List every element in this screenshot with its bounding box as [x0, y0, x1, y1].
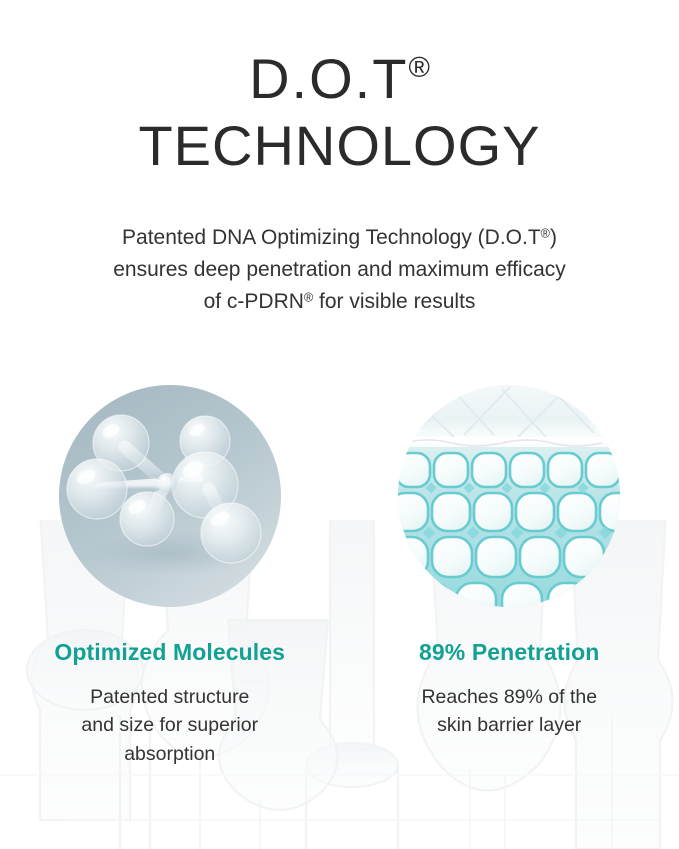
subtitle-line-1-b: ) [550, 226, 557, 249]
subtitle-line-3: of c-PDRN® for visible results [40, 286, 640, 318]
molecule-structure-image [59, 385, 281, 607]
feature-body-line-1: Patented structure [81, 683, 258, 711]
feature-penetration: 89% Penetration Reaches 89% of the skin … [340, 385, 679, 768]
feature-body-penetration: Reaches 89% of the skin barrier layer [421, 683, 597, 740]
feature-heading-penetration: 89% Penetration [419, 639, 599, 666]
subtitle-line-3-b: for visible results [313, 290, 475, 313]
dot-technology-infographic: D.O.T® TECHNOLOGY Patented DNA Optimizin… [0, 0, 679, 849]
subtitle-line-3-a: of c-PDRN [204, 290, 304, 313]
feature-columns: Optimized Molecules Patented structure a… [0, 385, 679, 768]
feature-body-line-2: skin barrier layer [421, 711, 597, 739]
subtitle-line-1: Patented DNA Optimizing Technology (D.O.… [40, 222, 640, 254]
title-line-1-text: D.O.T [249, 47, 408, 110]
page-title: D.O.T® TECHNOLOGY [0, 52, 679, 174]
skin-barrier-lattice-image [398, 385, 620, 607]
feature-body-line-3: absorption [81, 740, 258, 768]
subtitle: Patented DNA Optimizing Technology (D.O.… [40, 222, 640, 318]
feature-body-optimized-molecules: Patented structure and size for superior… [81, 683, 258, 768]
feature-body-line-1: Reaches 89% of the [421, 683, 597, 711]
subtitle-line-1-a: Patented DNA Optimizing Technology (D.O.… [122, 226, 541, 249]
feature-body-line-2: and size for superior [81, 711, 258, 739]
subtitle-line-2: ensures deep penetration and maximum eff… [40, 254, 640, 286]
registered-trademark-icon: ® [304, 290, 313, 304]
feature-optimized-molecules: Optimized Molecules Patented structure a… [0, 385, 340, 768]
registered-trademark-icon: ® [408, 52, 429, 84]
title-line-2: TECHNOLOGY [0, 119, 679, 174]
title-line-1: D.O.T® [0, 52, 679, 107]
feature-heading-optimized-molecules: Optimized Molecules [54, 639, 285, 666]
